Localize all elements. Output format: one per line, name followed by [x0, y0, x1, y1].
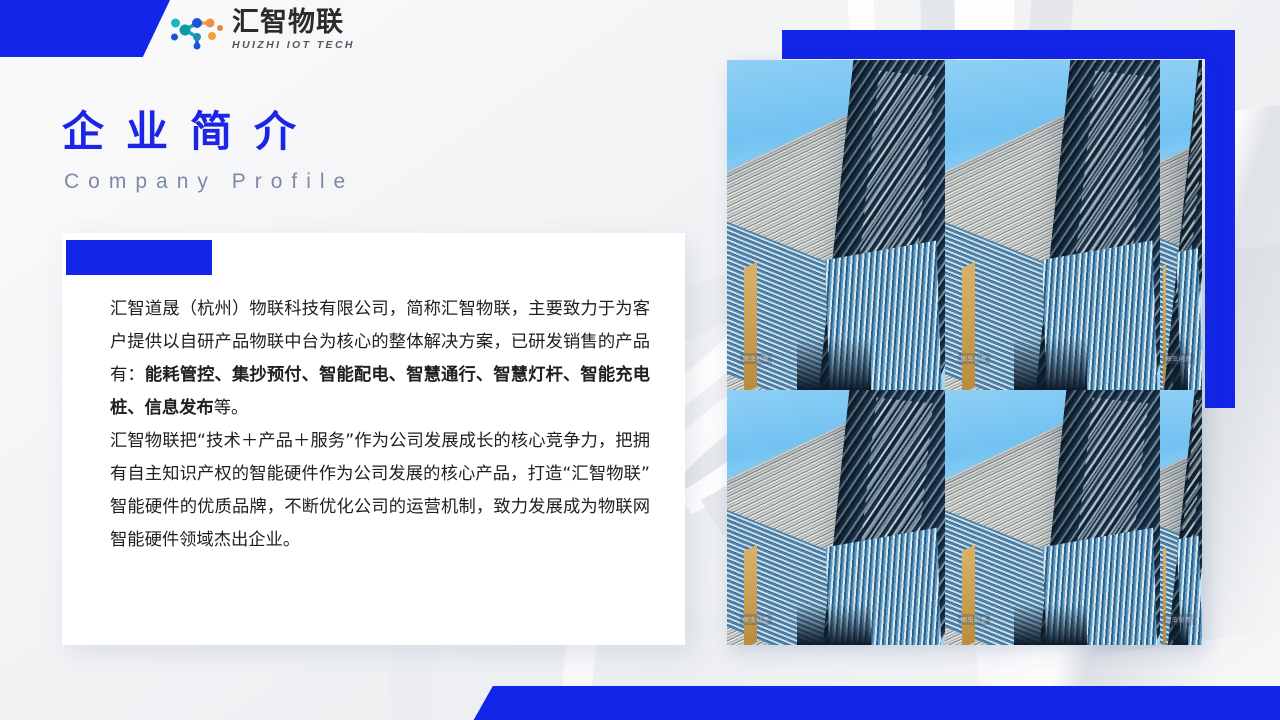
profile-paragraph-2: 汇智物联把“技术＋产品＋服务”作为公司发展成长的核心竞争力，把拥有自主知识产权的… [110, 425, 650, 557]
profile-paragraph-1: 汇智道晟（杭州）物联科技有限公司，简称汇智物联，主要致力于为客户提供以自研产品物… [110, 293, 650, 425]
profile-text-body: 汇智道晟（杭州）物联科技有限公司，简称汇智物联，主要致力于为客户提供以自研产品物… [110, 293, 650, 557]
photo-cell: 图虫创意 [727, 60, 945, 390]
top-left-accent-shape [0, 0, 170, 57]
building-photo-grid: 图虫创意图虫创意图虫创意图虫创意图虫创意图虫创意 [727, 60, 1202, 645]
molecule-network-icon [168, 8, 224, 52]
building-photo: 图虫创意 [945, 60, 1160, 390]
photo-cell: 图虫创意 [1160, 390, 1202, 645]
slide-root: 汇智物联 HUIZHI IOT TECH 企业简介 Company Profil… [0, 0, 1280, 720]
photo-watermark: 图虫创意 [1163, 614, 1195, 625]
building-photo: 图虫创意 [945, 390, 1160, 645]
building-photo: 图虫创意 [1160, 60, 1202, 390]
profile-card: 汇智道晟（杭州）物联科技有限公司，简称汇智物联，主要致力于为客户提供以自研产品物… [62, 233, 685, 645]
building-photo: 图虫创意 [727, 60, 945, 390]
photo-watermark: 图虫创意 [740, 614, 772, 625]
photo-cell: 图虫创意 [727, 390, 945, 645]
product-list-emphasis: 能耗管控、集抄预付、智能配电、智慧通行、智慧灯杆、智能充电桩、信息发布 [110, 365, 650, 418]
building-photo: 图虫创意 [727, 390, 945, 645]
brand-name-cn: 汇智物联 [232, 9, 355, 36]
photo-watermark: 图虫创意 [958, 353, 990, 364]
photo-frame-right-bar [1205, 30, 1235, 408]
photo-cell: 图虫创意 [1160, 60, 1202, 390]
photo-watermark: 图虫创意 [1163, 353, 1195, 364]
brand-logo: 汇智物联 HUIZHI IOT TECH [168, 8, 355, 52]
photo-frame-top-bar [782, 30, 1235, 59]
brand-name-en: HUIZHI IOT TECH [232, 40, 355, 51]
page-subtitle: Company Profile [64, 170, 354, 194]
page-title: 企业简介 [62, 98, 318, 159]
photo-watermark: 图虫创意 [740, 353, 772, 364]
profile-text-run: 等。 [214, 398, 249, 418]
building-photo: 图虫创意 [1160, 390, 1202, 645]
profile-text-run: 汇智物联把“技术＋产品＋服务”作为公司发展成长的核心竞争力，把拥有自主知识产权的… [110, 431, 650, 550]
photo-watermark: 图虫创意 [958, 614, 990, 625]
photo-cell: 图虫创意 [945, 60, 1160, 390]
card-accent-tab [66, 240, 212, 275]
photo-cell: 图虫创意 [945, 390, 1160, 645]
